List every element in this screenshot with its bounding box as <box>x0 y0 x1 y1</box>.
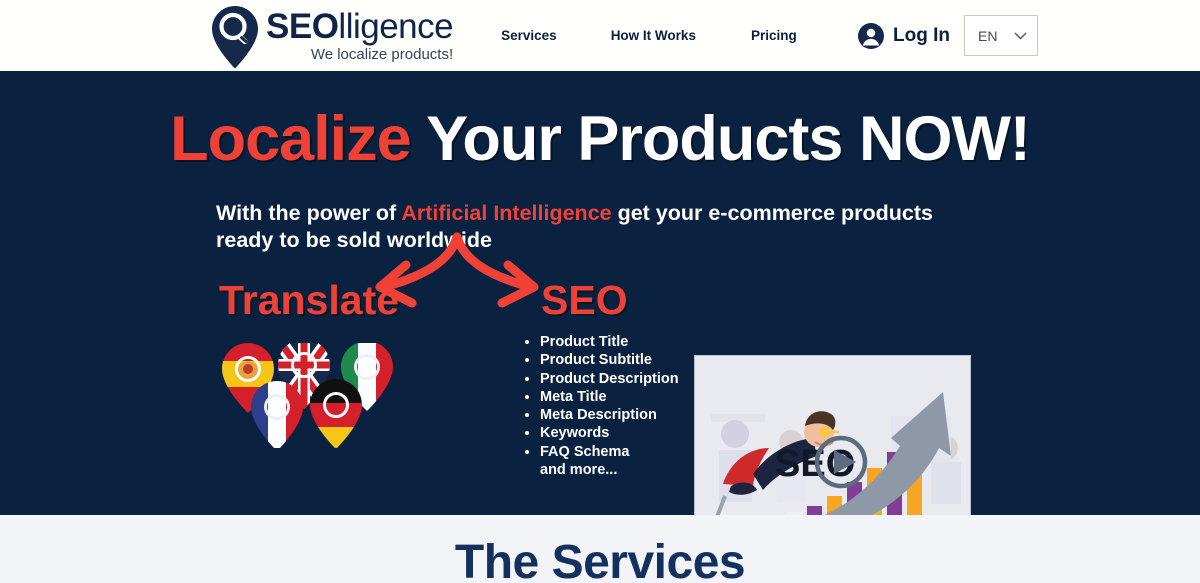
flag-pin-group <box>222 343 400 448</box>
feature-list: Product Title Product Subtitle Product D… <box>524 333 679 479</box>
language-value: EN <box>978 28 997 44</box>
nav-item-how-it-works[interactable]: How It Works <box>611 28 696 43</box>
map-pin-flag-france-icon <box>251 381 303 448</box>
list-item: Product Subtitle <box>540 351 679 369</box>
logo-wordmark: SEOlligence <box>266 9 453 45</box>
branching-double-arrow-icon <box>362 231 552 326</box>
list-item: Keywords <box>540 424 679 442</box>
list-item: Meta Title <box>540 388 679 406</box>
map-pin-magnifier-icon <box>212 6 258 68</box>
user-avatar-icon <box>858 23 884 49</box>
hero-headline: Localize Your Products NOW! <box>0 103 1200 175</box>
services-title: The Services <box>0 535 1200 583</box>
subhead-part1: With the power of <box>216 201 401 225</box>
hero-section: Localize Your Products NOW! With the pow… <box>0 71 1200 515</box>
header-actions: Log In EN <box>858 0 1038 71</box>
logo-text: SEOlligence We localize products! <box>266 3 453 63</box>
list-item: Meta Description <box>540 406 679 424</box>
list-item: FAQ Schema <box>540 443 679 461</box>
main-navigation: Services How It Works Pricing <box>501 28 797 43</box>
nav-item-pricing[interactable]: Pricing <box>751 28 797 43</box>
services-section: The Services <box>0 515 1200 583</box>
language-select[interactable]: EN <box>964 15 1038 56</box>
logo-word-bold: SEO <box>266 7 338 46</box>
seo-label: SEO <box>541 277 628 324</box>
map-pin-flag-germany-icon <box>310 379 362 448</box>
subhead-accent: Artificial Intelligence <box>401 201 611 225</box>
logo-tagline: We localize products! <box>266 46 453 63</box>
video-thumbnail[interactable]: SEO <box>694 355 971 515</box>
feature-list-items: Product Title Product Subtitle Product D… <box>524 333 679 461</box>
logo-word-light: lligence <box>338 7 453 46</box>
video-thumbnail-graphic: SEO <box>695 356 970 515</box>
hero-headline-accent: Localize <box>170 104 411 174</box>
login-button[interactable]: Log In <box>858 23 950 49</box>
chevron-down-icon <box>1014 32 1027 40</box>
nav-item-services[interactable]: Services <box>501 28 557 43</box>
site-header: SEOlligence We localize products! Servic… <box>0 0 1200 71</box>
hero-headline-rest: Your Products NOW! <box>411 104 1030 174</box>
feature-list-more: and more... <box>524 461 679 479</box>
list-item: Product Description <box>540 370 679 388</box>
list-item: Product Title <box>540 333 679 351</box>
hero-subheadline: With the power of Artificial Intelligenc… <box>216 200 984 254</box>
logo[interactable]: SEOlligence We localize products! <box>212 3 453 68</box>
login-label: Log In <box>893 25 950 47</box>
